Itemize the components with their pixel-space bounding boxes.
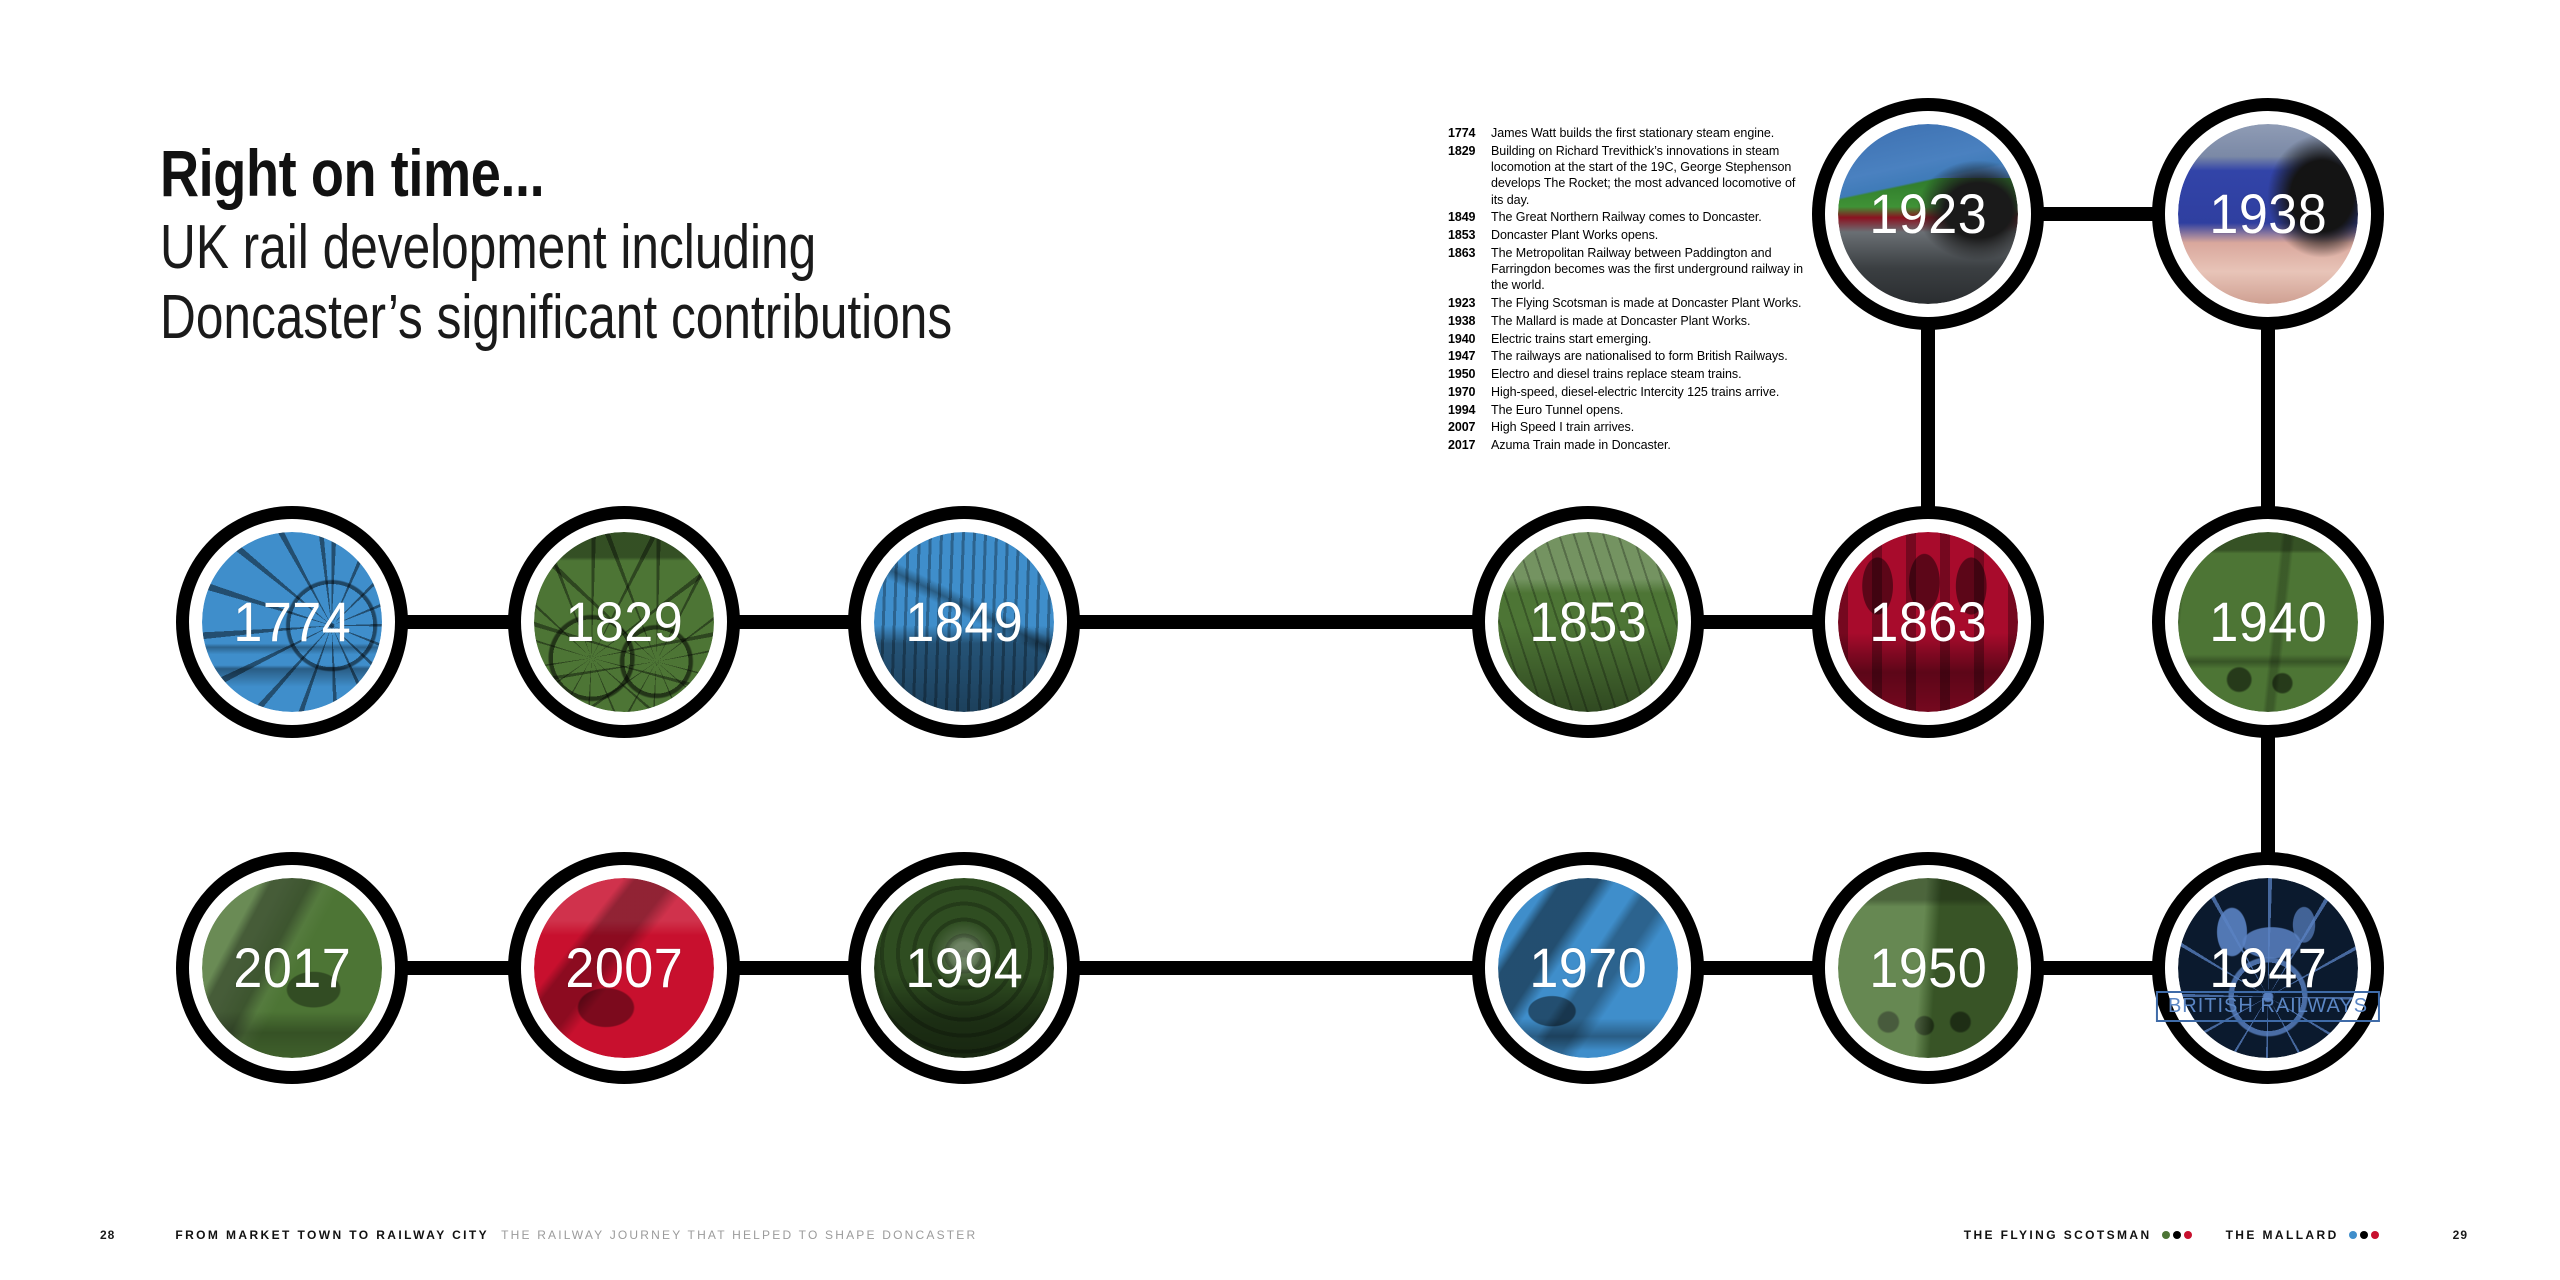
node-year-label: 1853 — [1529, 594, 1647, 650]
connector-1849-1853 — [1076, 615, 1476, 629]
fact-text: Doncaster Plant Works opens. — [1482, 227, 1803, 243]
fact-row: 1853Doncaster Plant Works opens. — [1448, 227, 1803, 243]
node-year-label: 1829 — [565, 594, 683, 650]
fact-text: The railways are nationalised to form Br… — [1482, 348, 1803, 364]
fact-row: 1950Electro and diesel trains replace st… — [1448, 366, 1803, 382]
footer-right: THE FLYING SCOTSMANTHE MALLARD29 — [1964, 1228, 2468, 1242]
connector-1829-1849 — [736, 615, 852, 629]
footer-badge-dots — [2159, 1231, 2192, 1239]
node-year-label: 1947 — [2209, 940, 2327, 996]
page-subtitle-line-1: UK rail development including — [160, 213, 1040, 282]
fact-year: 1970 — [1448, 384, 1482, 400]
connector-1940-1947 — [2261, 730, 2275, 856]
footer-dot-icon — [2360, 1231, 2368, 1239]
page-title: Right on time... — [160, 140, 1062, 207]
node-year-label: 1849 — [905, 594, 1023, 650]
fact-text: Electro and diesel trains replace steam … — [1482, 366, 1803, 382]
connector-1938-1940 — [2261, 322, 2275, 512]
footer-page-number-left: 28 — [100, 1228, 115, 1242]
timeline-node-1947[interactable]: 1947BRITISH RAILWAYS — [2152, 852, 2384, 1084]
connector-1774-1829 — [404, 615, 512, 629]
footer-badge: THE FLYING SCOTSMAN — [1964, 1228, 2192, 1242]
fact-text: Azuma Train made in Doncaster. — [1482, 437, 1803, 453]
connector-1947-1950 — [2040, 961, 2156, 975]
footer-tagline: THE RAILWAY JOURNEY THAT HELPED TO SHAPE… — [501, 1228, 977, 1242]
fact-row: 2007High Speed I train arrives. — [1448, 419, 1803, 435]
connector-2007-2017 — [404, 961, 512, 975]
node-year-label: 2007 — [565, 940, 683, 996]
page-footer: 28 FROM MARKET TOWN TO RAILWAY CITY THE … — [0, 1228, 2560, 1258]
fact-text: High Speed I train arrives. — [1482, 419, 1803, 435]
node-year-label: 2017 — [233, 940, 351, 996]
timeline-node-1950[interactable]: 1950 — [1812, 852, 2044, 1084]
fact-year: 1923 — [1448, 295, 1482, 311]
fact-year: 1849 — [1448, 209, 1482, 225]
fact-text: The Great Northern Railway comes to Donc… — [1482, 209, 1803, 225]
fact-text: The Euro Tunnel opens. — [1482, 402, 1803, 418]
node-year-label: 1940 — [2209, 594, 2327, 650]
fact-row: 1923The Flying Scotsman is made at Donca… — [1448, 295, 1803, 311]
timeline-node-1853[interactable]: 1853 — [1472, 506, 1704, 738]
node-year-label: 1923 — [1869, 186, 1987, 242]
page-heading-block: Right on time... UK rail development inc… — [160, 140, 1260, 352]
node-year-label: 1970 — [1529, 940, 1647, 996]
timeline-node-1849[interactable]: 1849 — [848, 506, 1080, 738]
connector-1950-1970 — [1700, 961, 1816, 975]
timeline-node-1829[interactable]: 1829 — [508, 506, 740, 738]
node-year-label: 1950 — [1869, 940, 1987, 996]
node-caption-british-railways: BRITISH RAILWAYS — [2156, 991, 2380, 1022]
fact-row: 1970High-speed, diesel-electric Intercit… — [1448, 384, 1803, 400]
connector-1994-2007 — [736, 961, 852, 975]
timeline-node-1940[interactable]: 1940 — [2152, 506, 2384, 738]
connector-1923-1938 — [2040, 207, 2156, 221]
timeline-node-1938[interactable]: 1938 — [2152, 98, 2384, 330]
connector-1970-1994 — [1076, 961, 1476, 975]
footer-dot-icon — [2349, 1231, 2357, 1239]
footer-badge-dots — [2346, 1231, 2379, 1239]
fact-year: 1994 — [1448, 402, 1482, 418]
timeline-node-1994[interactable]: 1994 — [848, 852, 1080, 1084]
fact-year: 1940 — [1448, 331, 1482, 347]
fact-year: 1863 — [1448, 245, 1482, 261]
fact-year: 2017 — [1448, 437, 1482, 453]
footer-badge-label: THE MALLARD — [2226, 1228, 2339, 1242]
fact-text: High-speed, diesel-electric Intercity 12… — [1482, 384, 1803, 400]
fact-text: The Flying Scotsman is made at Doncaster… — [1482, 295, 1803, 311]
fact-year: 1774 — [1448, 125, 1482, 141]
fact-row: 1938The Mallard is made at Doncaster Pla… — [1448, 313, 1803, 329]
node-year-label: 1863 — [1869, 594, 1987, 650]
footer-dot-icon — [2173, 1231, 2181, 1239]
fact-year: 1938 — [1448, 313, 1482, 329]
timeline-fact-list: 1774James Watt builds the first stationa… — [1448, 125, 1803, 455]
fact-year: 1853 — [1448, 227, 1482, 243]
node-year-label: 1938 — [2209, 186, 2327, 242]
connector-1863-1923 — [1921, 322, 1935, 512]
fact-year: 1950 — [1448, 366, 1482, 382]
footer-left: 28 FROM MARKET TOWN TO RAILWAY CITY THE … — [100, 1228, 977, 1242]
footer-dot-icon — [2371, 1231, 2379, 1239]
footer-publication-title: FROM MARKET TOWN TO RAILWAY CITY — [175, 1228, 489, 1242]
fact-row: 1994The Euro Tunnel opens. — [1448, 402, 1803, 418]
fact-text: Electric trains start emerging. — [1482, 331, 1803, 347]
fact-year: 1947 — [1448, 348, 1482, 364]
timeline-page: Right on time... UK rail development inc… — [0, 0, 2560, 1280]
footer-page-number-right: 29 — [2453, 1228, 2468, 1242]
fact-text: The Mallard is made at Doncaster Plant W… — [1482, 313, 1803, 329]
node-year-label: 1994 — [905, 940, 1023, 996]
fact-row: 1940Electric trains start emerging. — [1448, 331, 1803, 347]
fact-row: 2017Azuma Train made in Doncaster. — [1448, 437, 1803, 453]
fact-text: The Metropolitan Railway between Padding… — [1482, 245, 1803, 294]
fact-year: 1829 — [1448, 143, 1482, 159]
connector-1853-1863 — [1700, 615, 1816, 629]
page-subtitle-line-2: Doncaster’s significant contributions — [160, 283, 1040, 352]
fact-row: 1863The Metropolitan Railway between Pad… — [1448, 245, 1803, 294]
timeline-node-2017[interactable]: 2017 — [176, 852, 408, 1084]
timeline-node-1970[interactable]: 1970 — [1472, 852, 1704, 1084]
node-year-label: 1774 — [233, 594, 351, 650]
footer-dot-icon — [2184, 1231, 2192, 1239]
timeline-node-2007[interactable]: 2007 — [508, 852, 740, 1084]
fact-row: 1849The Great Northern Railway comes to … — [1448, 209, 1803, 225]
fact-year: 2007 — [1448, 419, 1482, 435]
fact-row: 1774James Watt builds the first stationa… — [1448, 125, 1803, 141]
fact-row: 1829Building on Richard Trevithick’s inn… — [1448, 143, 1803, 208]
fact-text: Building on Richard Trevithick’s innovat… — [1482, 143, 1803, 208]
fact-row: 1947The railways are nationalised to for… — [1448, 348, 1803, 364]
timeline-node-1774[interactable]: 1774 — [176, 506, 408, 738]
footer-dot-icon — [2162, 1231, 2170, 1239]
footer-badge: THE MALLARD — [2226, 1228, 2379, 1242]
timeline-node-1863[interactable]: 1863 — [1812, 506, 2044, 738]
footer-badge-label: THE FLYING SCOTSMAN — [1964, 1228, 2152, 1242]
timeline-node-1923[interactable]: 1923 — [1812, 98, 2044, 330]
fact-text: James Watt builds the first stationary s… — [1482, 125, 1803, 141]
